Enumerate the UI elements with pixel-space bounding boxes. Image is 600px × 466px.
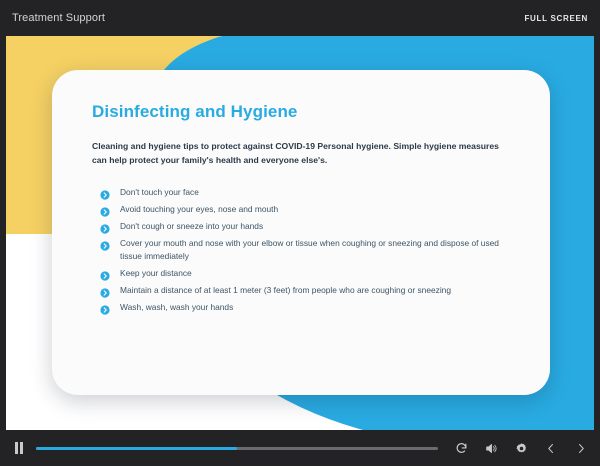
pause-bar-left <box>15 442 18 454</box>
list-item-label: Don't cough or sneeze into your hands <box>120 220 263 232</box>
course-player: Treatment Support FULL SCREEN Disinfecti… <box>0 0 600 466</box>
chevron-right-circle-icon <box>100 221 110 231</box>
slide-title: Disinfecting and Hygiene <box>92 102 512 122</box>
chevron-right-circle-icon <box>100 285 110 295</box>
control-icon-group <box>454 441 588 455</box>
settings-gear-icon[interactable] <box>514 441 528 455</box>
list-item-label: Keep your distance <box>120 267 192 279</box>
list-item: Cover your mouth and nose with your elbo… <box>100 237 512 261</box>
seek-slider[interactable] <box>36 447 438 450</box>
list-item-label: Don't touch your face <box>120 186 199 198</box>
chevron-right-circle-icon <box>100 187 110 197</box>
hygiene-tips-list: Don't touch your faceAvoid touching your… <box>92 186 512 314</box>
next-slide-icon[interactable] <box>574 441 588 455</box>
pause-icon[interactable] <box>12 441 26 455</box>
slide-intro-text: Cleaning and hygiene tips to protect aga… <box>92 140 512 168</box>
seek-progress-fill <box>36 447 237 450</box>
volume-icon[interactable] <box>484 441 498 455</box>
chevron-right-circle-icon <box>100 268 110 278</box>
list-item-label: Wash, wash, wash your hands <box>120 301 233 313</box>
content-card: Disinfecting and Hygiene Cleaning and hy… <box>52 70 550 395</box>
player-control-bar <box>0 430 600 466</box>
list-item-label: Maintain a distance of at least 1 meter … <box>120 284 451 296</box>
fullscreen-button[interactable]: FULL SCREEN <box>524 14 588 23</box>
list-item: Keep your distance <box>100 267 512 279</box>
previous-slide-icon[interactable] <box>544 441 558 455</box>
replay-icon[interactable] <box>454 441 468 455</box>
list-item: Maintain a distance of at least 1 meter … <box>100 284 512 296</box>
player-top-bar: Treatment Support FULL SCREEN <box>0 0 600 36</box>
list-item: Don't touch your face <box>100 186 512 198</box>
pause-bar-right <box>20 442 23 454</box>
list-item: Wash, wash, wash your hands <box>100 301 512 313</box>
list-item-label: Cover your mouth and nose with your elbo… <box>120 237 512 261</box>
chevron-right-circle-icon <box>100 238 110 248</box>
list-item-label: Avoid touching your eyes, nose and mouth <box>120 203 278 215</box>
list-item: Don't cough or sneeze into your hands <box>100 220 512 232</box>
slide-stage: Disinfecting and Hygiene Cleaning and hy… <box>6 36 594 430</box>
chevron-right-circle-icon <box>100 204 110 214</box>
list-item: Avoid touching your eyes, nose and mouth <box>100 203 512 215</box>
chevron-right-circle-icon <box>100 302 110 312</box>
course-title: Treatment Support <box>12 12 105 24</box>
